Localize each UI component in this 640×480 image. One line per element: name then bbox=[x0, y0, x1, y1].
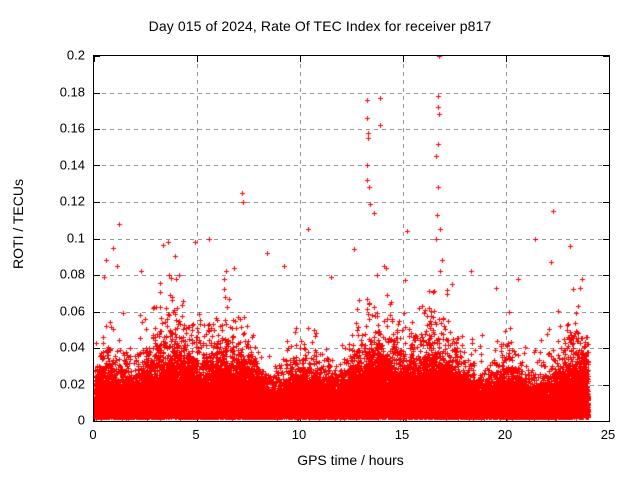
x-tick-label: 15 bbox=[395, 427, 409, 442]
plot-area bbox=[93, 55, 610, 422]
plot-title: Day 015 of 2024, Rate Of TEC Index for r… bbox=[0, 18, 640, 34]
y-tick-label: 0.02 bbox=[60, 376, 85, 391]
tick-marks bbox=[94, 56, 609, 421]
y-tick-label: 0.2 bbox=[67, 48, 85, 63]
x-axis-title: GPS time / hours bbox=[93, 452, 608, 468]
x-axis-tick-labels: 0510152025 bbox=[93, 427, 608, 447]
y-tick-label: 0.08 bbox=[60, 267, 85, 282]
x-tick-label: 10 bbox=[292, 427, 306, 442]
y-axis-title: ROTI / TECUs bbox=[10, 144, 26, 304]
y-tick-label: 0 bbox=[78, 413, 85, 428]
y-tick-label: 0.12 bbox=[60, 194, 85, 209]
y-tick-label: 0.06 bbox=[60, 303, 85, 318]
x-tick-label: 20 bbox=[498, 427, 512, 442]
y-tick-label: 0.04 bbox=[60, 340, 85, 355]
y-tick-label: 0.1 bbox=[67, 230, 85, 245]
x-tick-label: 5 bbox=[192, 427, 199, 442]
y-tick-label: 0.14 bbox=[60, 157, 85, 172]
roti-scatter-figure: Day 015 of 2024, Rate Of TEC Index for r… bbox=[0, 0, 640, 480]
y-tick-label: 0.16 bbox=[60, 121, 85, 136]
y-tick-label: 0.18 bbox=[60, 84, 85, 99]
x-tick-label: 0 bbox=[89, 427, 96, 442]
x-tick-label: 25 bbox=[601, 427, 615, 442]
